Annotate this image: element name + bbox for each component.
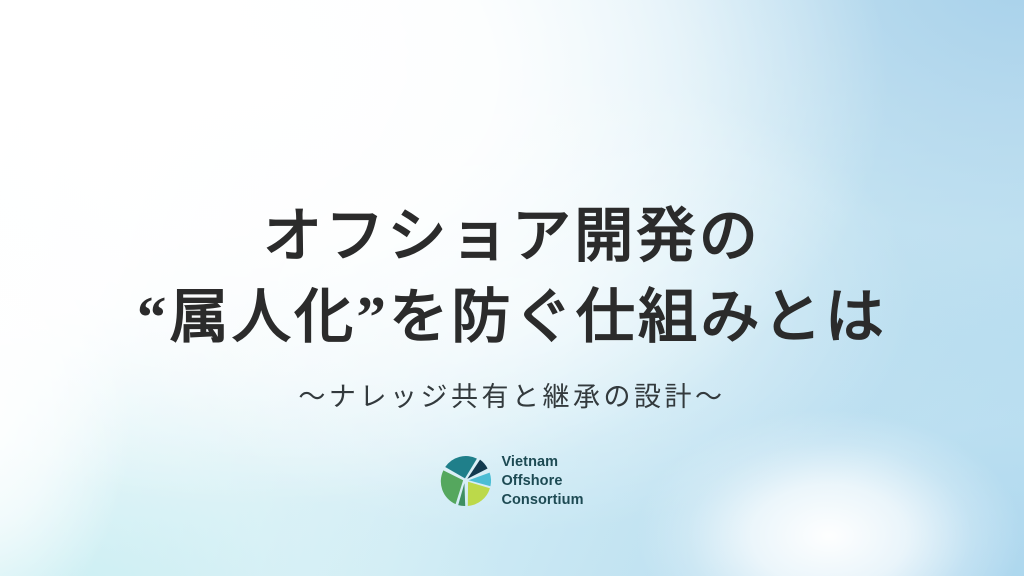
pie-chart-logo-icon bbox=[440, 455, 492, 507]
slide-subtitle: 〜ナレッジ共有と継承の設計〜 bbox=[298, 379, 725, 417]
brand-wordmark: Vietnam Offshore Consortium bbox=[501, 453, 583, 509]
brand-logo: Vietnam Offshore Consortium bbox=[440, 453, 583, 509]
slide-content: オフショア開発の “属人化”を防ぐ仕組みとは 〜ナレッジ共有と継承の設計〜 bbox=[0, 0, 1024, 576]
wordmark-line-2: Offshore bbox=[501, 472, 583, 491]
logo-wedge-green bbox=[441, 471, 463, 505]
wordmark-line-3: Consortium bbox=[501, 491, 583, 510]
slide-title-line-2: “属人化”を防ぐ仕組みとは bbox=[0, 279, 1024, 356]
title-slide: オフショア開発の “属人化”を防ぐ仕組みとは 〜ナレッジ共有と継承の設計〜 bbox=[0, 0, 1024, 576]
wordmark-line-1: Vietnam bbox=[501, 453, 583, 472]
logo-wedge-lime bbox=[468, 482, 490, 506]
slide-title-line-1: オフショア開発の bbox=[0, 198, 1024, 275]
title-block: オフショア開発の “属人化”を防ぐ仕組みとは bbox=[0, 198, 1024, 355]
